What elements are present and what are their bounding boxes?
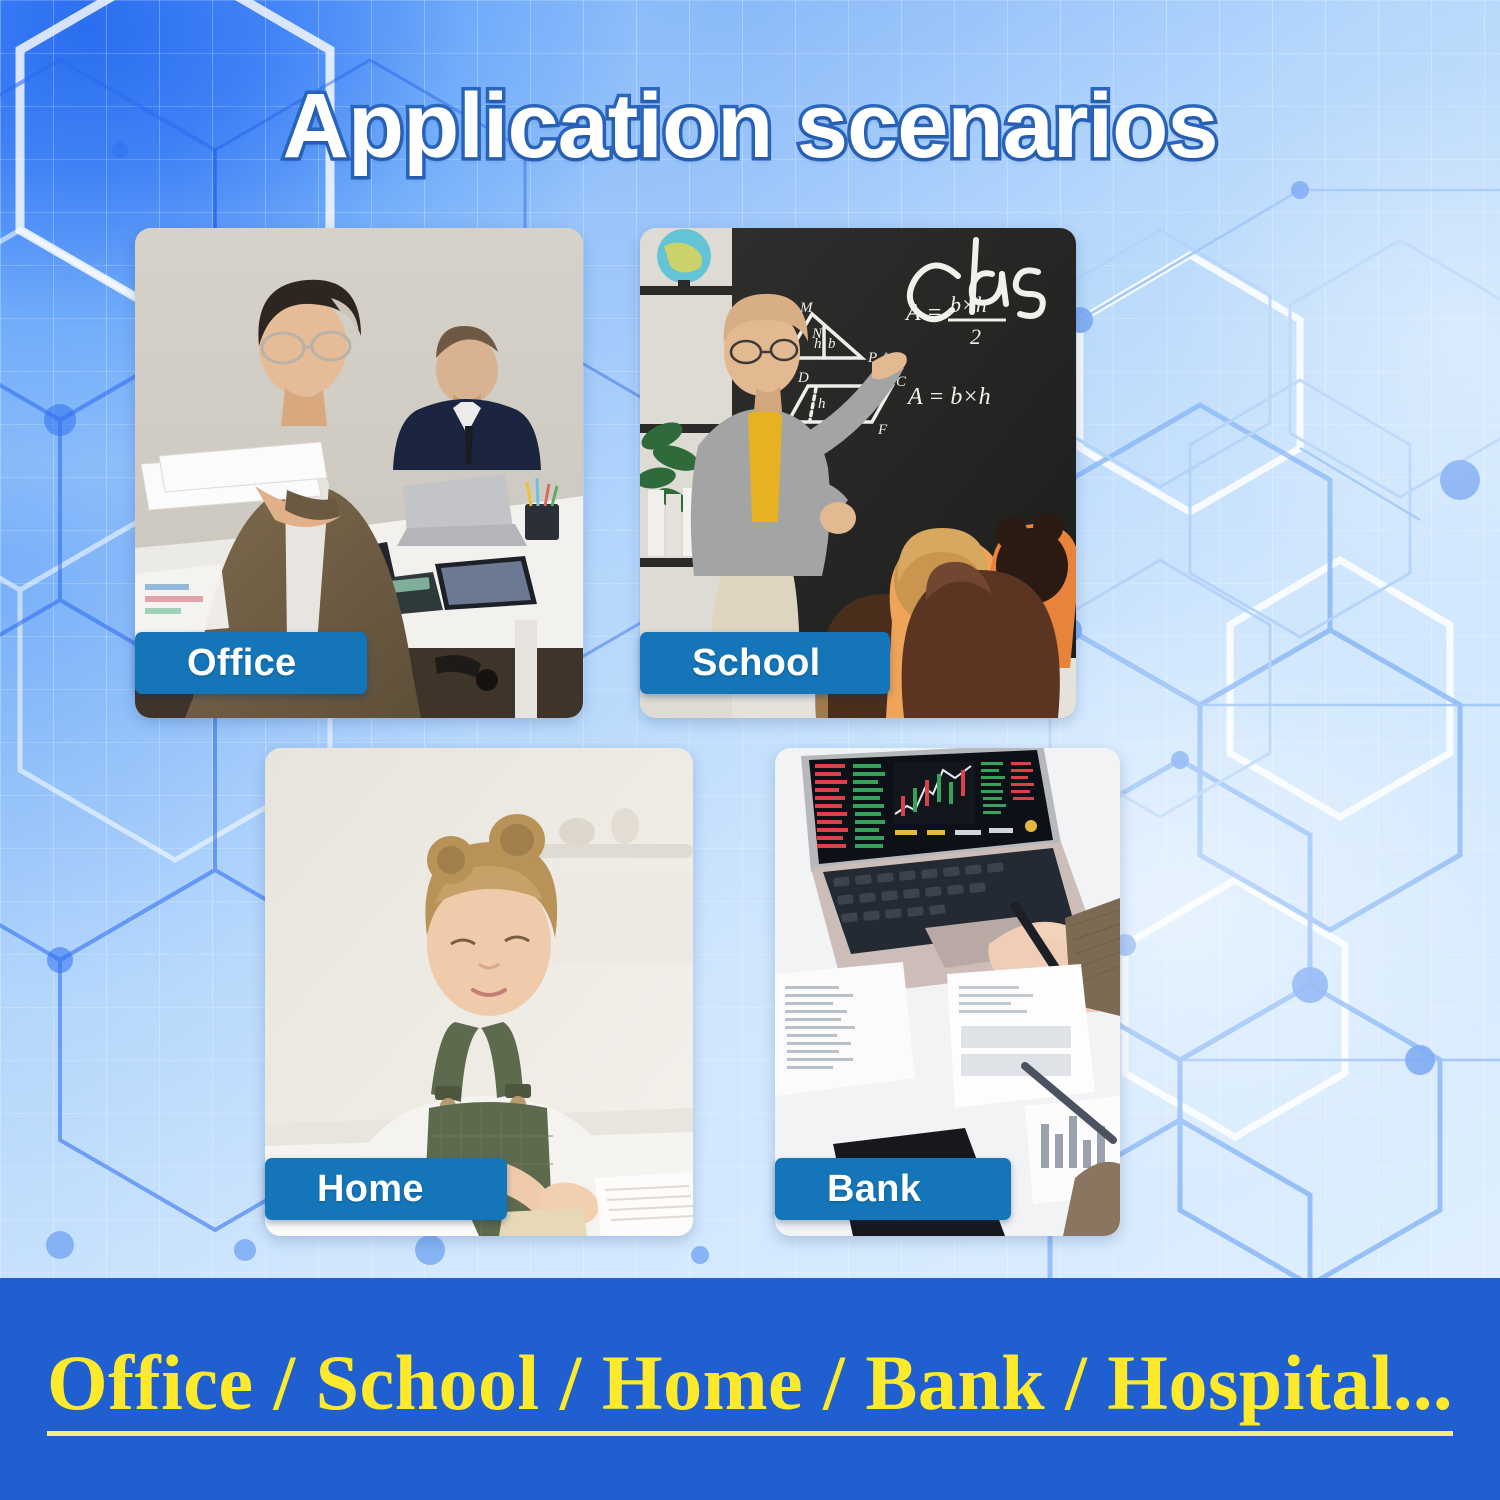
badge-school: School <box>640 632 890 694</box>
page-title: Application scenarios <box>282 78 1217 175</box>
svg-text:A =: A = <box>904 300 942 326</box>
svg-text:2: 2 <box>970 324 981 349</box>
badge-office: Office <box>135 632 367 694</box>
badge-bank: Bank <box>775 1158 1011 1220</box>
svg-text:A = b×h: A = b×h <box>906 384 991 410</box>
page-title-container: Application scenarios <box>0 78 1500 175</box>
svg-text:F: F <box>877 422 888 438</box>
svg-text:h: h <box>818 396 826 412</box>
badge-bank-label: Bank <box>775 1168 921 1211</box>
badge-school-label: School <box>640 642 820 685</box>
background-glow <box>0 0 1500 1500</box>
badge-home: Home <box>265 1158 507 1220</box>
footer-banner: Office / School / Home / Bank / Hospital… <box>0 1278 1500 1500</box>
application-scenarios-poster: Application scenarios <box>0 0 1500 1500</box>
svg-text:b×h: b×h <box>950 292 987 317</box>
badge-office-label: Office <box>135 642 297 685</box>
svg-text:h: h <box>814 336 822 352</box>
badge-home-label: Home <box>265 1168 424 1211</box>
footer-text: Office / School / Home / Bank / Hospital… <box>47 1342 1453 1437</box>
svg-text:D: D <box>797 370 809 386</box>
svg-text:b: b <box>828 336 836 352</box>
